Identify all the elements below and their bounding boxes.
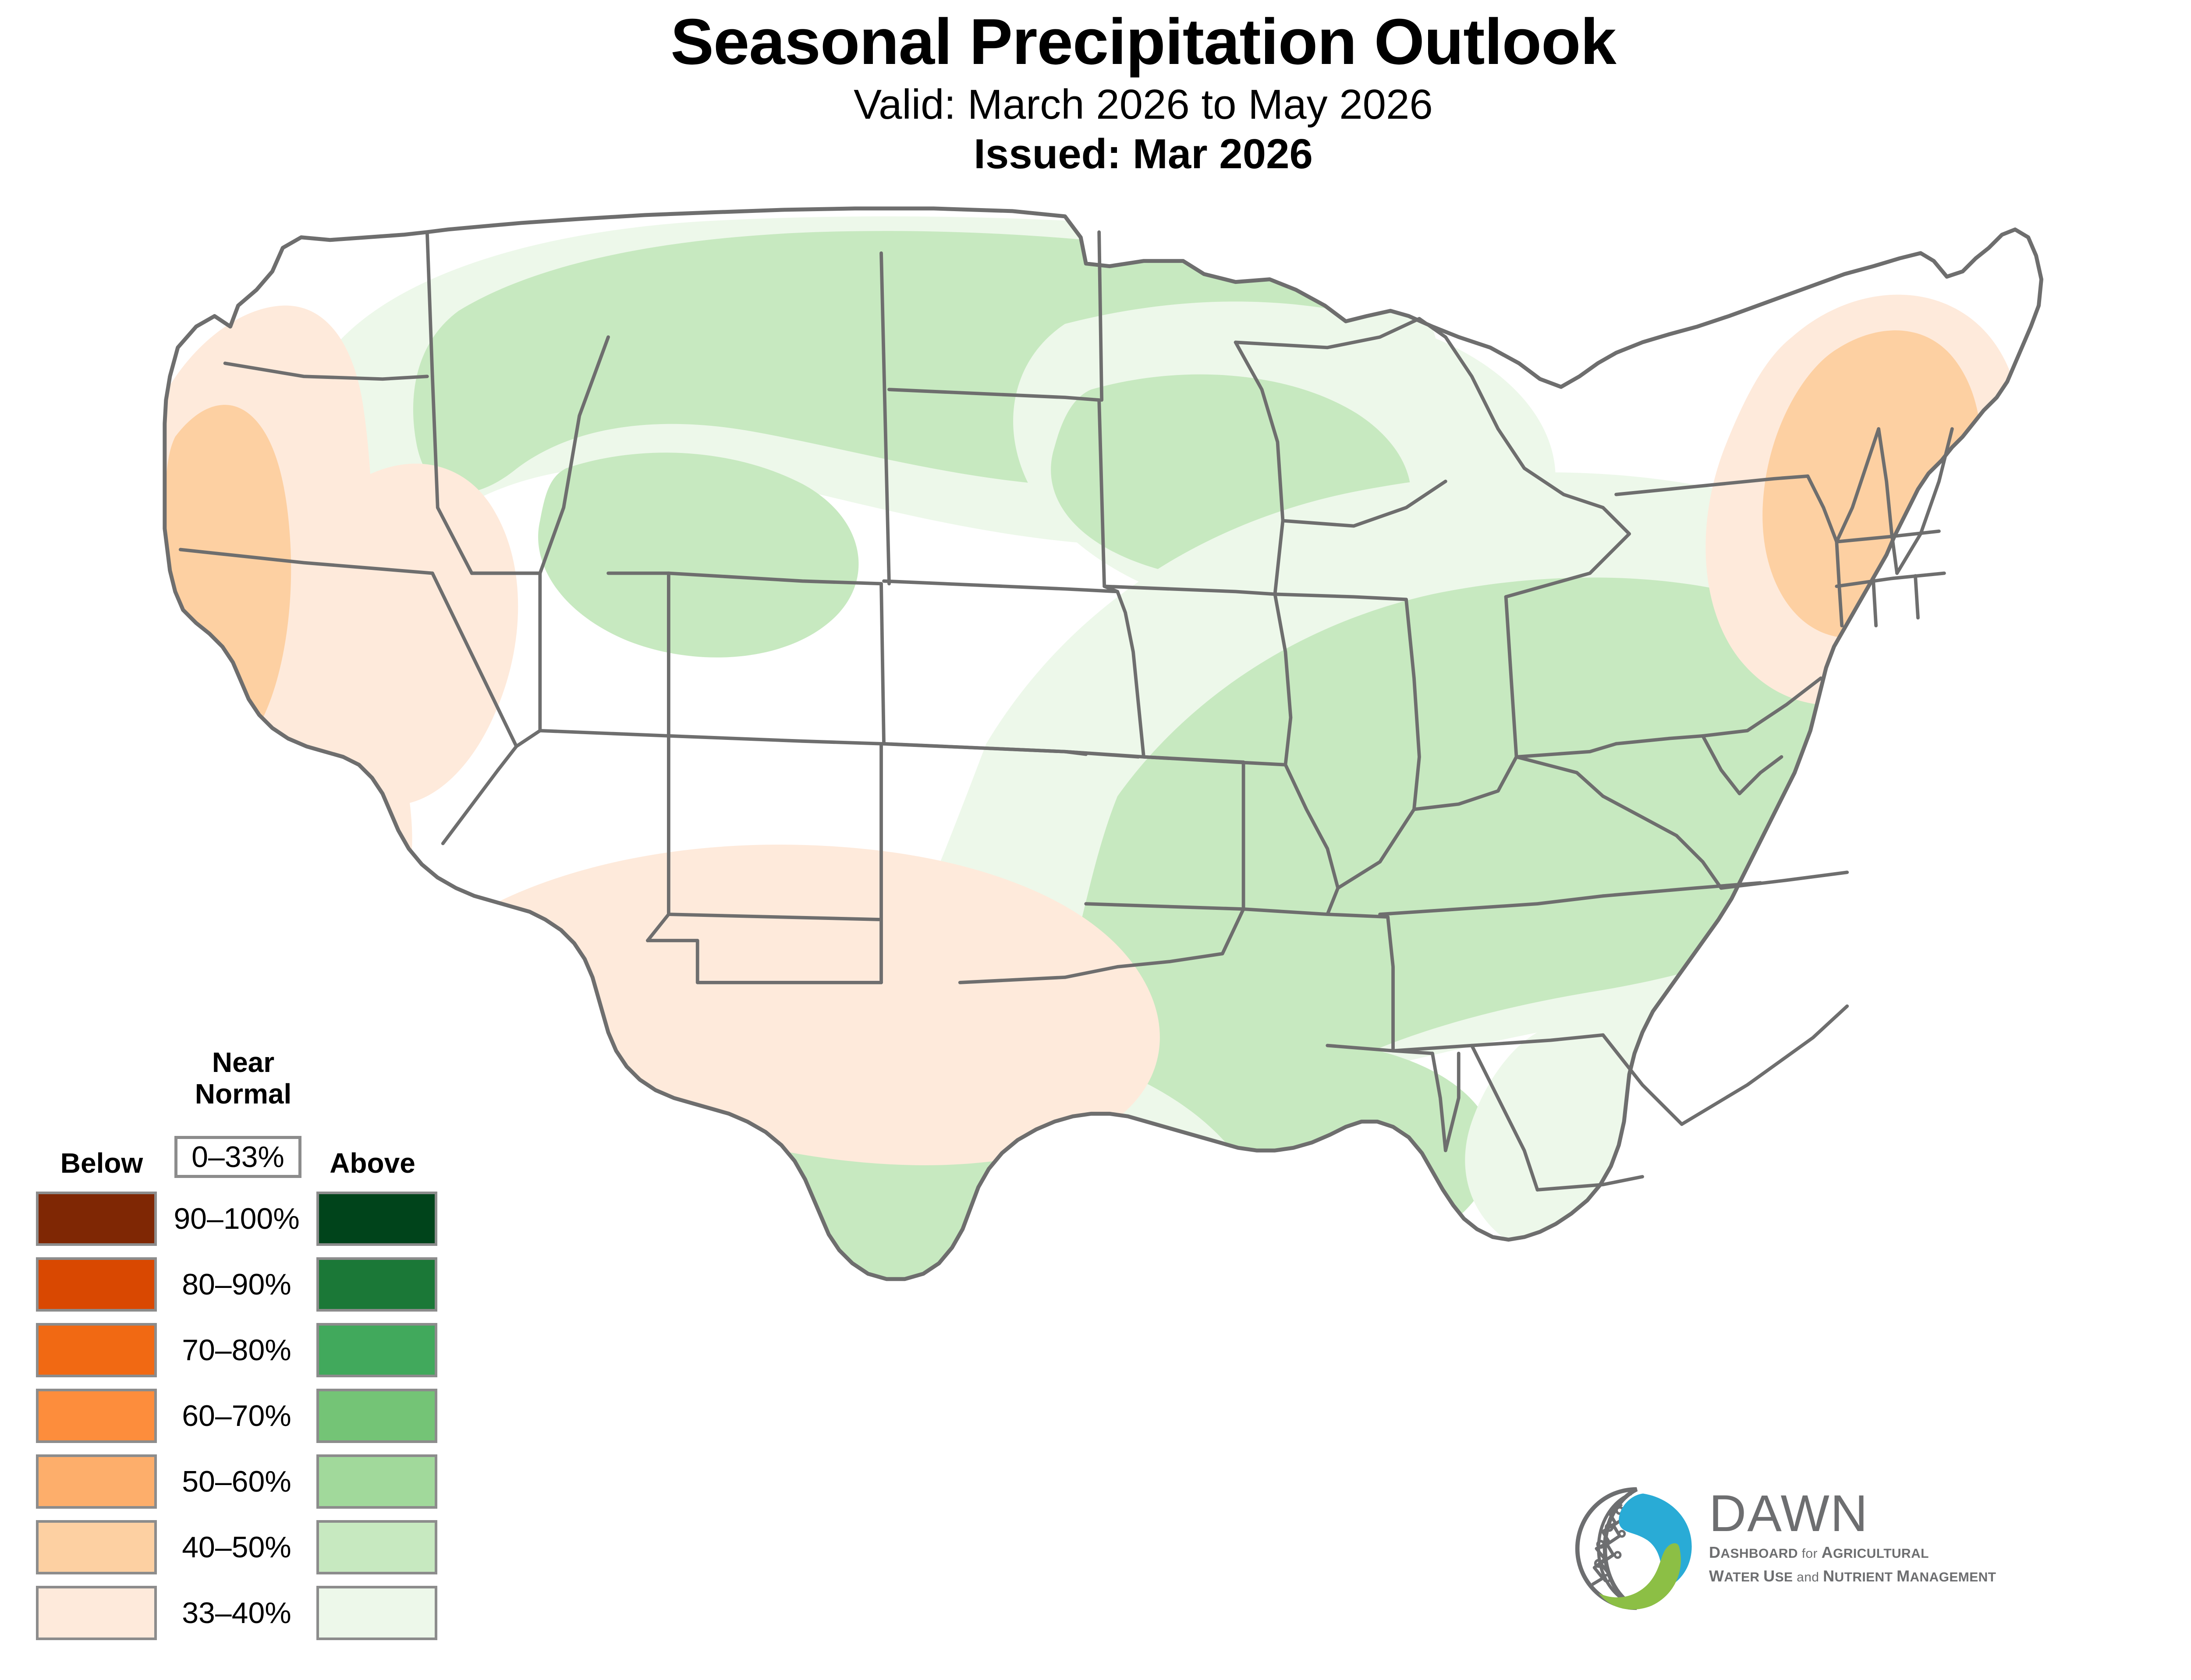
legend-swatch-above bbox=[316, 1586, 437, 1640]
issued-date: Issued: Mar 2026 bbox=[0, 132, 2191, 177]
legend-swatch-below bbox=[36, 1192, 157, 1246]
tag-ater: ATER bbox=[1724, 1570, 1763, 1585]
dawn-wordmark: DAWN bbox=[1709, 1488, 2046, 1539]
legend-swatch-above bbox=[316, 1454, 437, 1509]
legend-row-label: 90–100% bbox=[158, 1196, 316, 1241]
legend-row: 90–100% bbox=[26, 1192, 447, 1257]
tag-u: U bbox=[1763, 1567, 1775, 1585]
legend-swatch-above bbox=[316, 1257, 437, 1312]
legend-row: 33–40% bbox=[26, 1586, 447, 1652]
tag-d: D bbox=[1709, 1543, 1720, 1561]
legend-row: 80–90% bbox=[26, 1257, 447, 1323]
dawn-logo: DAWN DASHBOARD for AGRICULTURAL WATER US… bbox=[1573, 1485, 2046, 1616]
legend-rows: 90–100%80–90%70–80%60–70%50–60%40–50%33–… bbox=[26, 1192, 447, 1652]
near-normal-value: 0–33% bbox=[191, 1140, 284, 1174]
legend-row: 60–70% bbox=[26, 1389, 447, 1454]
legend-swatch-below bbox=[36, 1586, 157, 1640]
near-normal-line1: Near bbox=[171, 1047, 316, 1079]
legend-swatch-above bbox=[316, 1520, 437, 1574]
legend-swatch-above bbox=[316, 1323, 437, 1377]
legend-row: 70–80% bbox=[26, 1323, 447, 1389]
legend-row-label: 70–80% bbox=[158, 1327, 316, 1373]
tag-n: N bbox=[1823, 1567, 1834, 1585]
border-nc-sc bbox=[1682, 1006, 1847, 1125]
map-legend: Near Normal 0–33% Below Above 90–100%80–… bbox=[26, 1047, 447, 1656]
valid-period-subtitle: Valid: March 2026 to May 2026 bbox=[0, 83, 2191, 127]
legend-row-label: 50–60% bbox=[158, 1459, 316, 1504]
tag-w: W bbox=[1709, 1567, 1724, 1585]
chart-header: Seasonal Precipitation Outlook Valid: Ma… bbox=[0, 0, 2191, 177]
tag-a: A bbox=[1822, 1543, 1833, 1561]
dawn-tagline-line1: DASHBOARD for AGRICULTURAL bbox=[1709, 1542, 2046, 1563]
near-normal-line2: Normal bbox=[171, 1079, 316, 1110]
dawn-logo-text: DAWN DASHBOARD for AGRICULTURAL WATER US… bbox=[1709, 1488, 2046, 1586]
near-normal-label: Near Normal bbox=[171, 1047, 316, 1110]
near-normal-value-box: 0–33% bbox=[174, 1136, 301, 1178]
tag-utrient: UTRIENT bbox=[1835, 1570, 1897, 1585]
legend-row: 50–60% bbox=[26, 1454, 447, 1520]
tag-for: for bbox=[1798, 1546, 1822, 1561]
tag-m: M bbox=[1897, 1567, 1910, 1585]
page-title: Seasonal Precipitation Outlook bbox=[0, 8, 2191, 76]
tag-and: and bbox=[1793, 1570, 1823, 1585]
dawn-tagline-line2: WATER USE and NUTRIENT MANAGEMENT bbox=[1709, 1566, 2046, 1587]
legend-swatch-below bbox=[36, 1257, 157, 1312]
legend-row: 40–50% bbox=[26, 1520, 447, 1586]
legend-row-label: 80–90% bbox=[158, 1262, 316, 1307]
legend-swatch-below bbox=[36, 1323, 157, 1377]
legend-swatch-above bbox=[316, 1389, 437, 1443]
tag-gricultural: GRICULTURAL bbox=[1833, 1546, 1929, 1561]
legend-swatch-above bbox=[316, 1192, 437, 1246]
legend-row-label: 33–40% bbox=[158, 1590, 316, 1636]
tag-se: SE bbox=[1775, 1570, 1793, 1585]
below-column-label: Below bbox=[36, 1147, 167, 1179]
region-south-texas-50-60 bbox=[908, 1259, 1099, 1399]
above-column-label: Above bbox=[307, 1147, 438, 1179]
legend-swatch-below bbox=[36, 1454, 157, 1509]
legend-swatch-below bbox=[36, 1520, 157, 1574]
legend-swatch-below bbox=[36, 1389, 157, 1443]
legend-row-label: 60–70% bbox=[158, 1393, 316, 1439]
dawn-logo-mark bbox=[1573, 1485, 1700, 1612]
tag-anagement: ANAGEMENT bbox=[1910, 1570, 1996, 1585]
tag-ashboard: ASHBOARD bbox=[1720, 1546, 1798, 1561]
legend-row-label: 40–50% bbox=[158, 1524, 316, 1570]
